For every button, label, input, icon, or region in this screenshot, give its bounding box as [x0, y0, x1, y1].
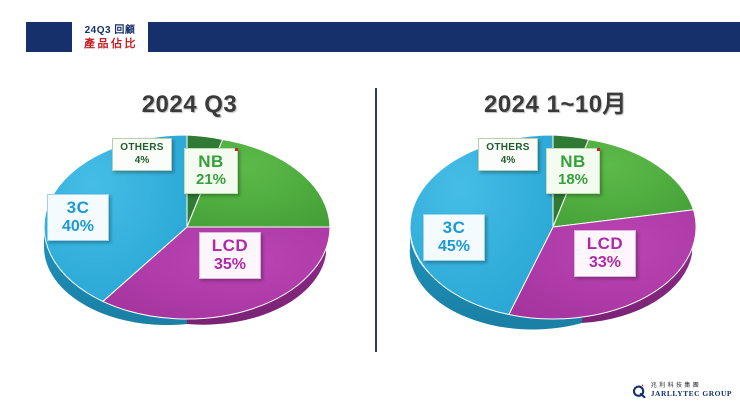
marker-dot-icon — [597, 148, 600, 151]
slide: 24Q3 回顧 產品佔比 2024 Q3 — [0, 0, 740, 408]
pie-label-nb-q3: NB 21% — [184, 148, 238, 194]
header-band-left — [26, 22, 72, 52]
chart-panel-q3: 2024 Q3 — [12, 88, 367, 358]
pie-label-3c-ytd: 3C 45% — [423, 214, 485, 261]
pie-label-lcd-q3: LCD 35% — [199, 232, 261, 279]
jarllytec-mark-icon — [632, 383, 647, 398]
chart-title-q3: 2024 Q3 — [12, 88, 367, 122]
page-title: 24Q3 回顧 產品佔比 — [72, 18, 148, 56]
pie-label-3c-q3: 3C 40% — [47, 194, 109, 241]
page-title-line1: 24Q3 回顧 — [85, 24, 136, 37]
pie-chart-ytd: OTHERS 4% NB 18% LCD 33% 3C 45% — [378, 122, 733, 354]
logo-text: 兆利科技集團 JARLLYTEC GROUP — [651, 383, 732, 397]
pie-label-lcd-ytd: LCD 33% — [574, 230, 636, 277]
logo-text-en: JARLLYTEC GROUP — [651, 390, 732, 398]
header-band-right — [148, 22, 740, 52]
marker-dot-icon — [235, 148, 238, 151]
company-logo: 兆利科技集團 JARLLYTEC GROUP — [632, 383, 732, 398]
chart-panel-ytd: 2024 1~10月 — [378, 88, 733, 358]
pie-label-others-q3: OTHERS 4% — [112, 138, 172, 171]
page-title-line2: 產品佔比 — [82, 37, 138, 51]
pie-label-others-ytd: OTHERS 4% — [478, 138, 538, 171]
pie-chart-q3: OTHERS 4% NB 21% LCD 35% 3C 40% — [12, 122, 367, 354]
pie-label-nb-ytd: NB 18% — [546, 148, 600, 194]
panel-divider — [375, 88, 377, 352]
chart-title-ytd: 2024 1~10月 — [378, 88, 733, 122]
